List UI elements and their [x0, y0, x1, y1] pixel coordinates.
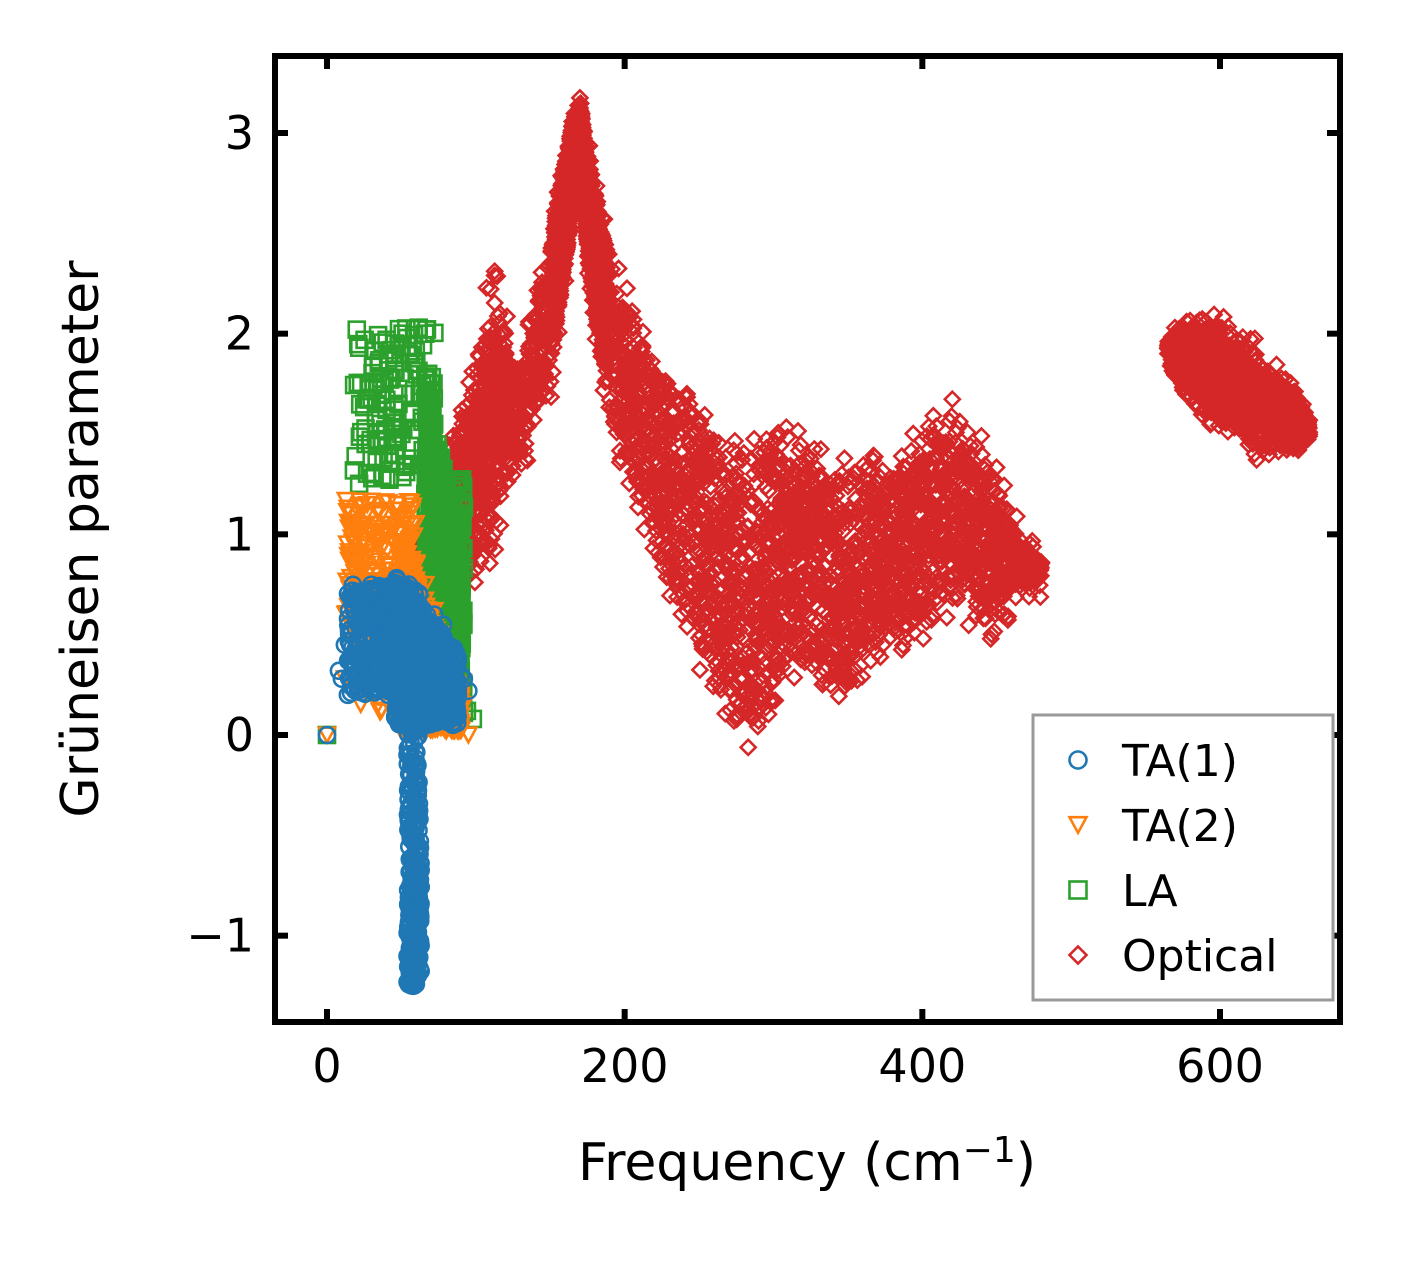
legend-label: TA(1): [1121, 736, 1238, 787]
y-tick-label: 0: [225, 708, 254, 762]
y-tick-label: −1: [186, 909, 254, 963]
y-axis-title: Grüneisen parameter: [51, 260, 111, 818]
y-tick-label: 3: [225, 106, 254, 160]
legend-label: Optical: [1122, 931, 1277, 982]
y-tick-label: 2: [225, 307, 254, 361]
x-axis-title-base: Frequency (cm: [578, 1133, 963, 1193]
x-axis-title-tail: ): [1016, 1133, 1036, 1193]
figure-canvas: 0200400600−10123 Frequency (cm−1) Grünei…: [0, 0, 1406, 1264]
x-axis-title-superscript: −1: [963, 1130, 1016, 1171]
gruneisen-scatter-plot: 0200400600−10123 Frequency (cm−1) Grünei…: [0, 0, 1406, 1264]
y-tick-label: 1: [225, 507, 254, 561]
legend[interactable]: TA(1)TA(2)LAOptical: [1033, 715, 1333, 1000]
x-tick-label: 0: [312, 1039, 341, 1093]
legend-label: LA: [1122, 866, 1178, 917]
x-tick-label: 400: [878, 1039, 966, 1093]
x-tick-label: 600: [1176, 1039, 1264, 1093]
legend-label: TA(2): [1121, 801, 1238, 852]
x-tick-label: 200: [581, 1039, 669, 1093]
